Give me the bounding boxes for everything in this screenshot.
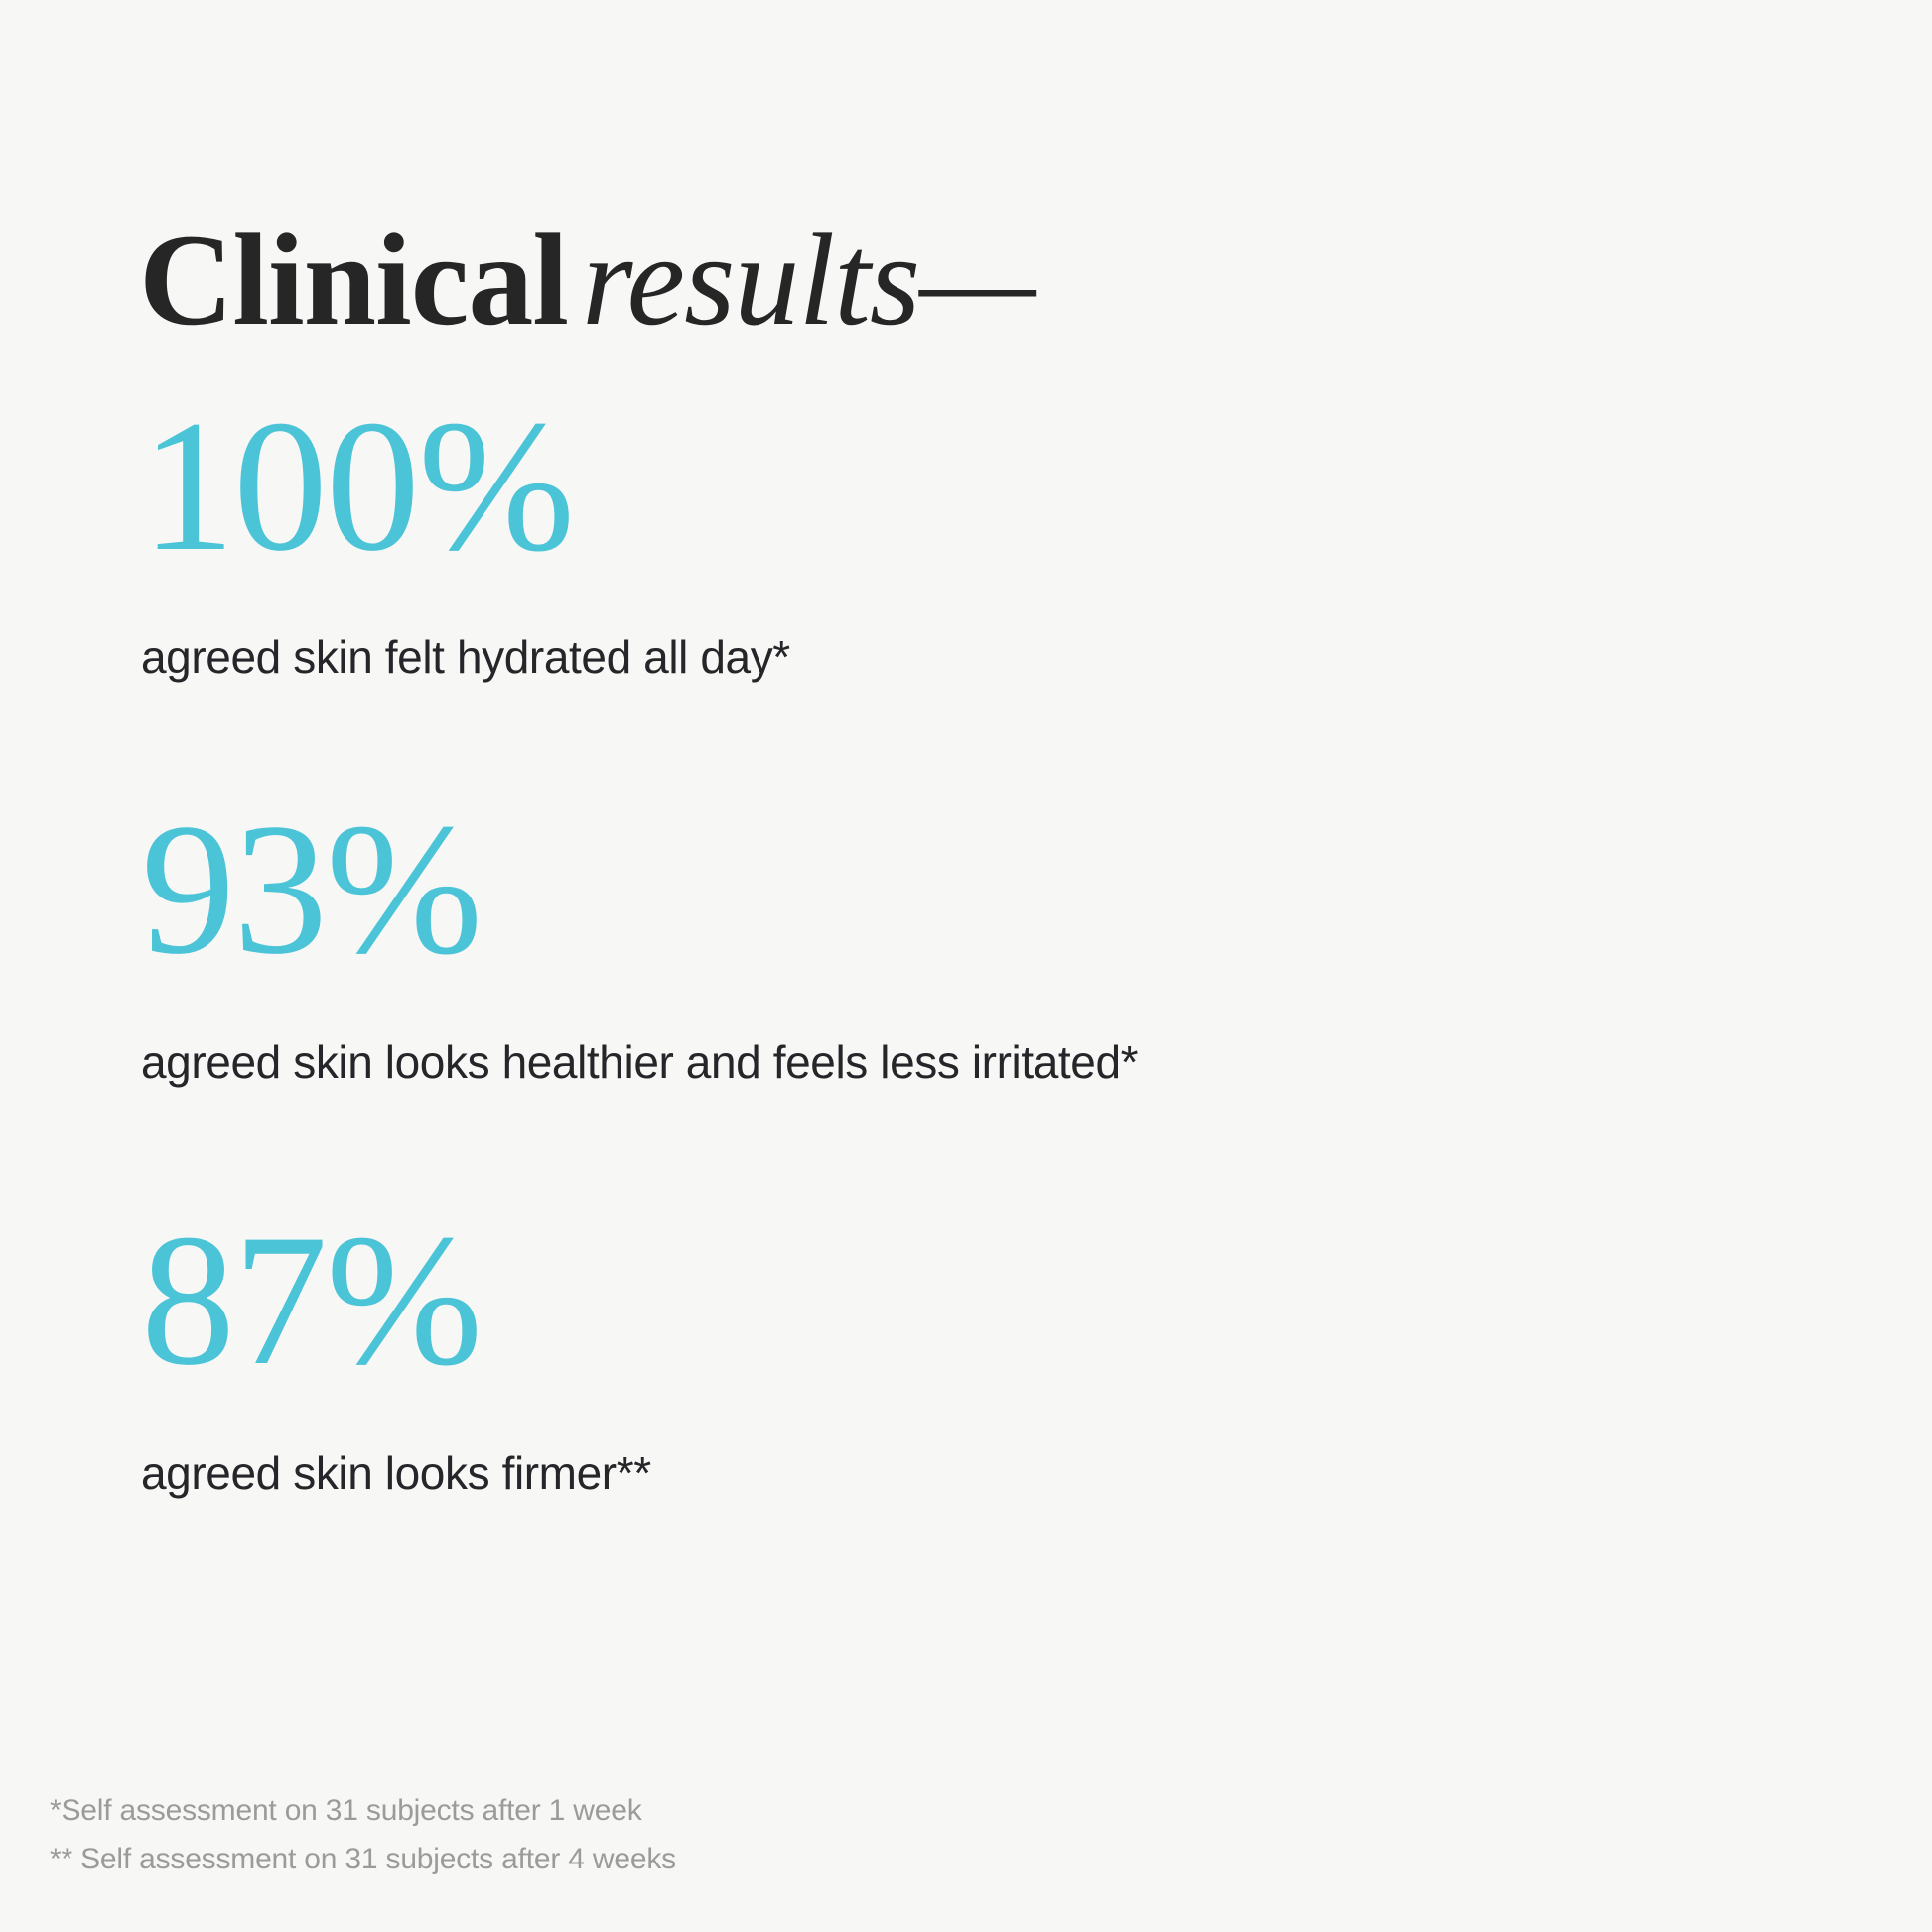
page-title-italic: results—	[582, 207, 1035, 352]
footnotes: *Self assessment on 31 subjects after 1 …	[50, 1787, 1638, 1883]
footnote-2: ** Self assessment on 31 subjects after …	[50, 1836, 1638, 1884]
stat-label-2: agreed skin looks healthier and feels le…	[141, 1035, 1829, 1090]
stat-block-2: 93% agreed skin looks healthier and feel…	[141, 800, 1829, 1090]
stat-value-3: 87%	[141, 1211, 1829, 1391]
page-title: Clinicalresults—	[139, 214, 1035, 345]
stat-block-3: 87% agreed skin looks firmer**	[141, 1211, 1829, 1501]
stat-value-2: 93%	[141, 800, 1829, 980]
page-title-upright: Clinical	[139, 207, 568, 352]
clinical-results-page: Clinicalresults— 100% agreed skin felt h…	[0, 0, 1932, 1932]
stat-block-1: 100% agreed skin felt hydrated all day*	[141, 397, 1829, 685]
stat-value-1: 100%	[141, 397, 1829, 577]
footnote-1: *Self assessment on 31 subjects after 1 …	[50, 1787, 1638, 1836]
stat-label-1: agreed skin felt hydrated all day*	[141, 630, 1829, 685]
stat-label-3: agreed skin looks firmer**	[141, 1447, 1829, 1501]
